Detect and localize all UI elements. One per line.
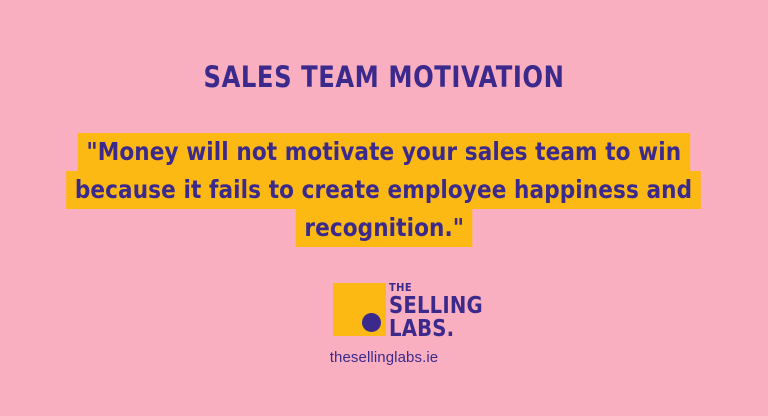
quote-line-text: recognition."	[295, 209, 472, 247]
quote-line: recognition."	[0, 209, 768, 247]
quote-line-text: because it fails to create employee happ…	[67, 171, 702, 209]
social-quote-card: SALES TEAM MOTIVATION "Money will not mo…	[0, 0, 768, 416]
logo-square-icon	[333, 283, 386, 336]
logo-word-selling: SELLING	[389, 295, 483, 317]
quote-line: "Money will not motivate your sales team…	[0, 133, 768, 171]
quote-line-text: "Money will not motivate your sales team…	[78, 133, 690, 171]
brand-logo: THE SELLING LABS.	[333, 283, 483, 339]
logo-wordmark: THE SELLING LABS.	[389, 282, 488, 340]
quote-line: because it fails to create employee happ…	[0, 171, 768, 209]
logo-word-labs: LABS.	[389, 318, 483, 340]
logo-circle-icon	[362, 313, 381, 332]
page-title: SALES TEAM MOTIVATION	[27, 60, 741, 94]
website-url: thesellinglabs.ie	[0, 349, 768, 366]
quote-block: "Money will not motivate your sales team…	[0, 133, 768, 247]
